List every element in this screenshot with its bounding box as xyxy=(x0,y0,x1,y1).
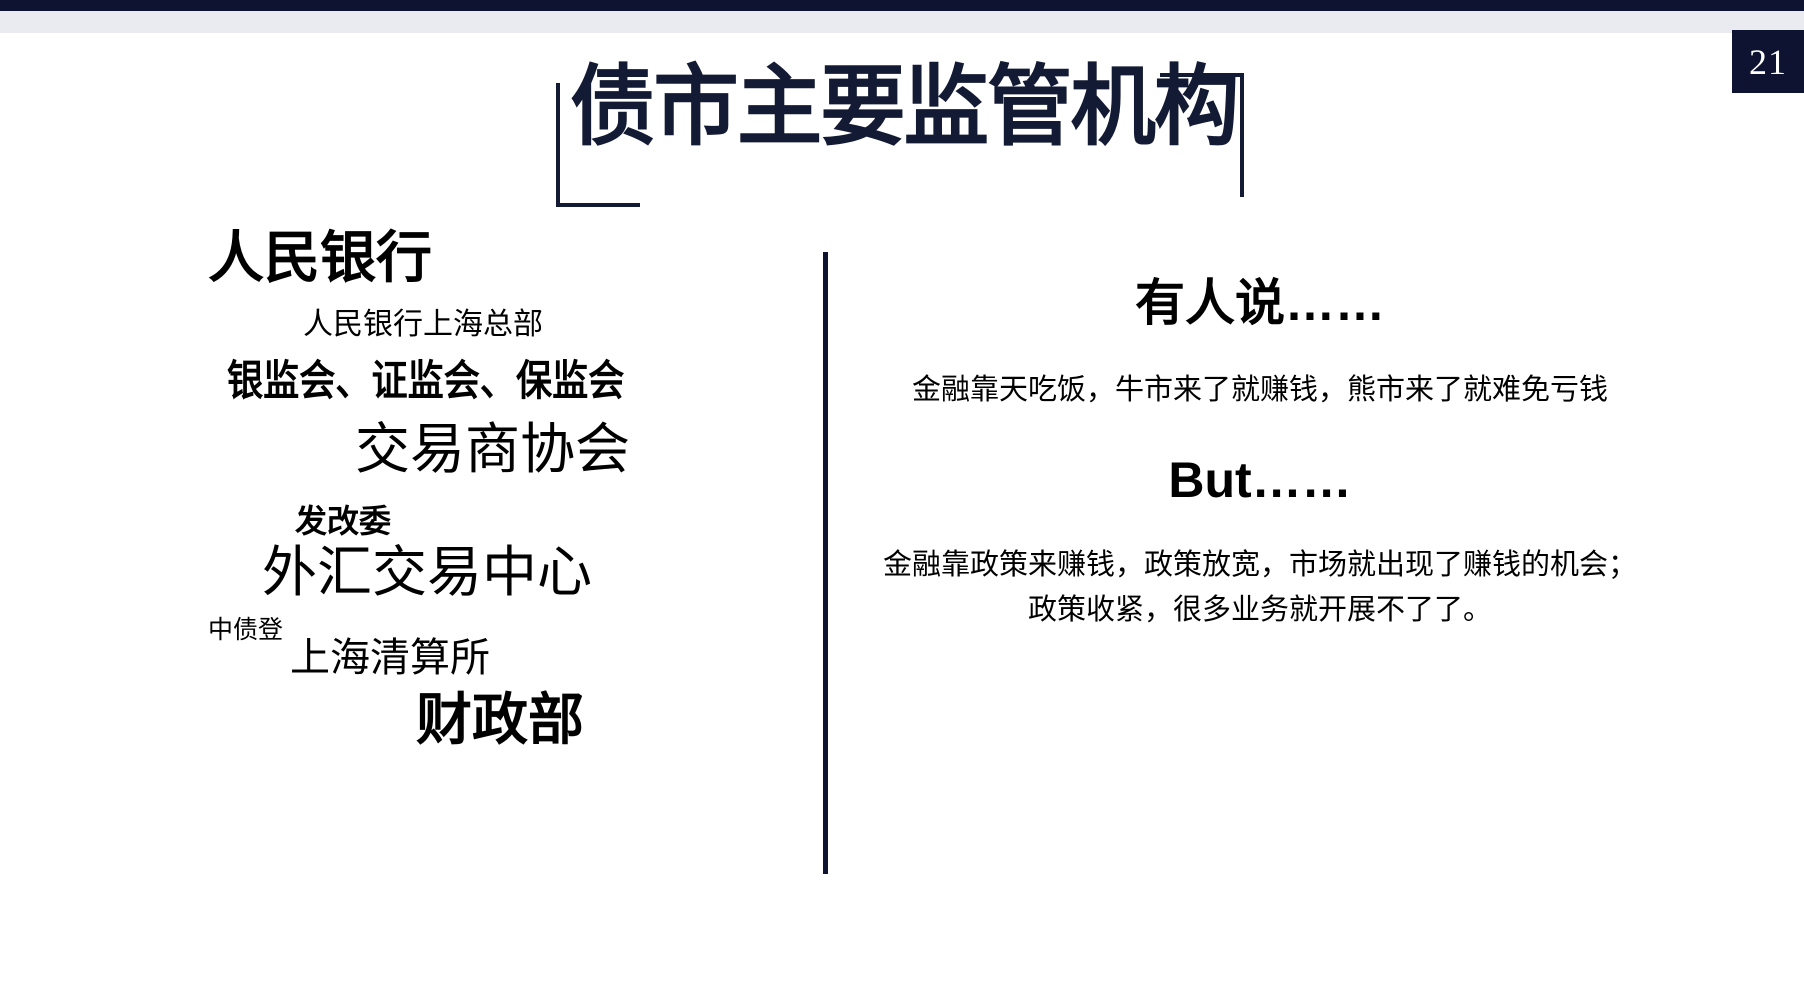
page-number-text: 21 xyxy=(1749,41,1787,83)
page-title: 债市主要监管机构 xyxy=(570,52,1237,162)
commentary-body-2: 金融靠政策来赚钱，政策放宽，市场就出现了赚钱的机会； 政策收紧，很多业务就开展不… xyxy=(860,543,1660,633)
column-divider xyxy=(823,252,828,874)
agency-label-shclearing: 上海清算所 xyxy=(290,638,490,678)
commentary-heading-2: But…… xyxy=(860,455,1660,505)
page-number-badge: 21 xyxy=(1732,30,1804,93)
commentary-body-1: 金融靠天吃饭，牛市来了就赚钱，熊市来了就难免亏钱 xyxy=(860,368,1660,413)
agency-label-ndrc: 发改委 xyxy=(295,505,391,537)
agency-label-cfets: 外汇交易中心 xyxy=(262,545,592,600)
agency-label-three-commissions: 银监会、证监会、保监会 xyxy=(227,360,624,402)
agency-label-renmin-yinhang-shanghai: 人民银行上海总部 xyxy=(303,310,543,340)
regulators-word-cloud: 人民银行 人民银行上海总部 银监会、证监会、保监会 交易商协会 发改委 外汇交易… xyxy=(150,230,790,870)
top-gray-band xyxy=(0,11,1804,33)
agency-label-renmin-yinhang: 人民银行 xyxy=(208,230,432,286)
top-accent-bar xyxy=(0,0,1804,11)
agency-label-nafmii: 交易商协会 xyxy=(355,422,630,477)
agency-label-mof: 财政部 xyxy=(416,692,584,748)
slide-title-block: 债市主要监管机构 xyxy=(556,60,1256,210)
commentary-body-2-line-2: 政策收紧，很多业务就开展不了了。 xyxy=(860,588,1660,633)
agency-label-chinabond: 中债登 xyxy=(208,618,283,643)
commentary-panel: 有人说…… 金融靠天吃饭，牛市来了就赚钱，熊市来了就难免亏钱 But…… 金融靠… xyxy=(860,270,1660,633)
commentary-body-2-line-1: 金融靠政策来赚钱，政策放宽，市场就出现了赚钱的机会； xyxy=(860,543,1660,588)
commentary-heading-1: 有人说…… xyxy=(860,278,1660,328)
